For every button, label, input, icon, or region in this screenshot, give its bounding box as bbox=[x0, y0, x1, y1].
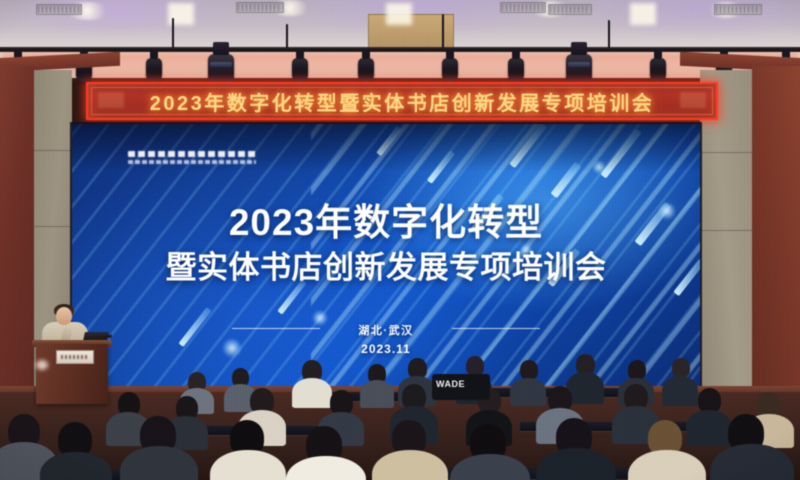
ceiling-vent bbox=[548, 4, 592, 15]
stage-light bbox=[358, 58, 374, 82]
slide-top-shade bbox=[72, 124, 700, 172]
ceiling-vent bbox=[236, 2, 284, 13]
stage-light bbox=[508, 58, 524, 82]
panel-seam bbox=[34, 150, 72, 151]
slide-logo bbox=[128, 151, 256, 164]
panel-seam bbox=[700, 152, 752, 153]
panel-seam bbox=[700, 230, 752, 231]
ceiling-vent bbox=[36, 4, 82, 15]
truss-cable bbox=[608, 20, 610, 48]
ceiling-vent bbox=[714, 4, 762, 15]
panel-seam bbox=[34, 226, 72, 227]
slide-title-line1: 2023年数字化转型 bbox=[72, 204, 700, 243]
speaker-head bbox=[56, 307, 72, 325]
stage-light bbox=[292, 58, 308, 82]
slide-title: 2023年数字化转型 暨实体书店创新发展专项培训会 bbox=[72, 204, 700, 285]
wade-jacket: WADE bbox=[432, 374, 490, 400]
truss-cable bbox=[442, 14, 444, 48]
stage-light bbox=[650, 58, 666, 82]
audience: WADE bbox=[0, 330, 800, 480]
slide-title-line2: 暨实体书店创新发展专项培训会 bbox=[72, 250, 700, 286]
wade-jacket-text: WADE bbox=[436, 379, 465, 389]
wall-light-spot bbox=[386, 3, 412, 25]
banner-text: 2023年数字化转型暨实体书店创新发展专项培训会 bbox=[150, 87, 655, 116]
conference-hall-photo: 2023年数字化转型暨实体书店创新发展专项培训会 bbox=[0, 0, 800, 480]
banner-end-glow bbox=[98, 92, 124, 108]
banner-end-glow bbox=[680, 92, 706, 108]
truss-cable bbox=[172, 18, 174, 48]
wall-light-spot bbox=[630, 3, 656, 25]
event-banner: 2023年数字化转型暨实体书店创新发展专项培训会 bbox=[86, 82, 718, 120]
ceiling-vent bbox=[500, 2, 546, 13]
stage-light bbox=[146, 58, 162, 82]
stage-light bbox=[442, 58, 458, 82]
truss-cable bbox=[286, 24, 288, 48]
